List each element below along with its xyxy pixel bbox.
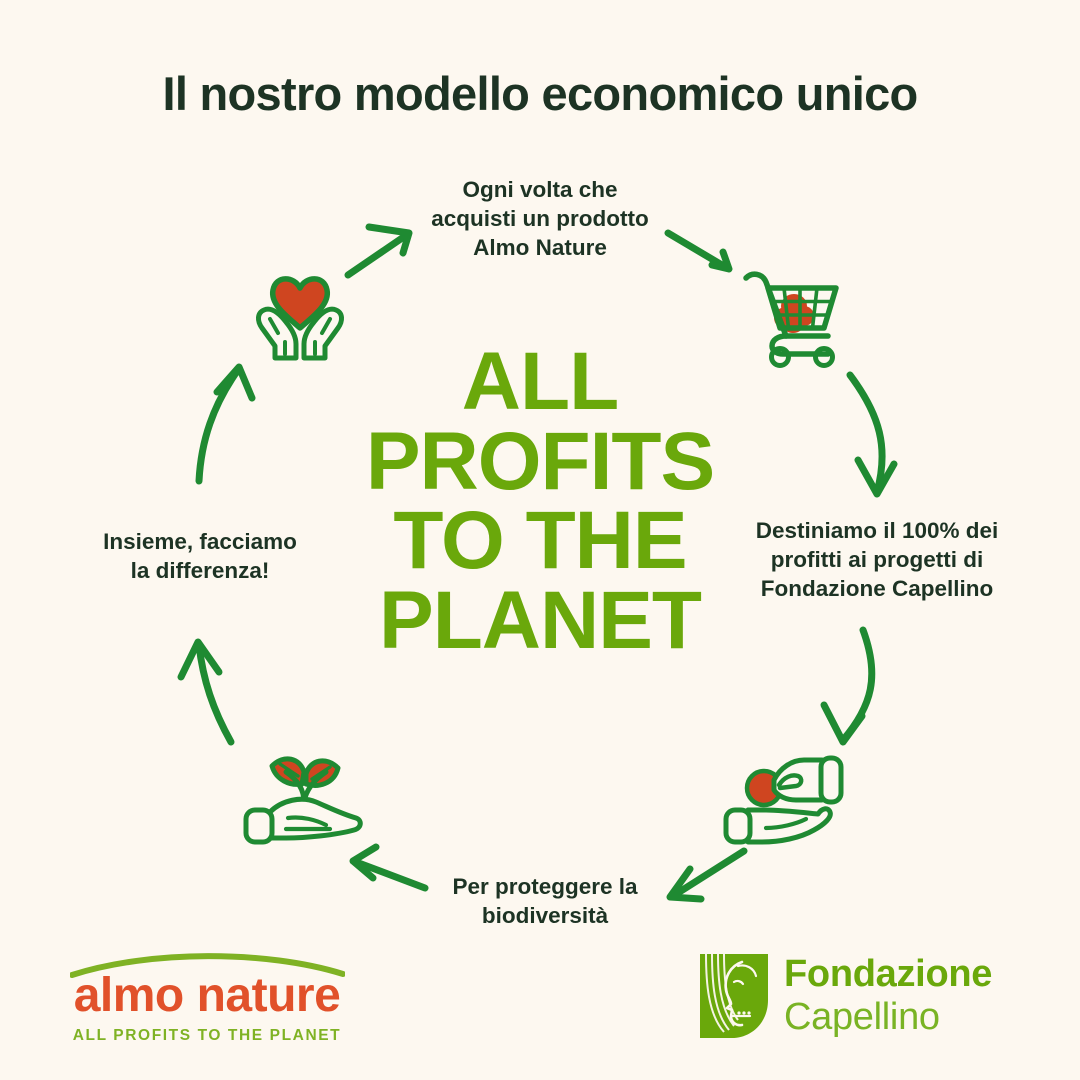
biodiversity-line-2: biodiversità bbox=[405, 902, 685, 931]
profits-line-3: Fondazione Capellino bbox=[722, 575, 1032, 604]
purchase-line-3: Almo Nature bbox=[390, 234, 690, 263]
purchase-line-1: Ogni volta che bbox=[390, 176, 690, 205]
arrow-together-to-heart bbox=[199, 367, 252, 481]
step-label-purchase: Ogni volta che acquisti un prodotto Almo… bbox=[390, 176, 690, 262]
fondazione-capellino-logo: Fondazione Capellino bbox=[698, 952, 1018, 1048]
biodiversity-line-1: Per proteggere la bbox=[405, 873, 685, 902]
together-line-1: Insieme, facciamo bbox=[55, 528, 345, 557]
hand-holding-plant-icon bbox=[240, 740, 368, 848]
headline-line-1: ALL bbox=[330, 342, 750, 422]
profits-line-2: profitti ai progetti di bbox=[722, 546, 1032, 575]
almo-nature-logo: almo nature ALL PROFITS TO THE PLANET bbox=[62, 952, 352, 1048]
fondazione-capellino-mark-icon bbox=[698, 952, 770, 1040]
hands-holding-heart-icon bbox=[244, 258, 356, 366]
profits-line-1: Destiniamo il 100% dei bbox=[722, 517, 1032, 546]
headline-line-4: PLANET bbox=[330, 581, 750, 661]
headline-line-2: PROFITS bbox=[330, 422, 750, 502]
hand-giving-coin-icon bbox=[718, 748, 848, 850]
fondazione-capellino-line-2: Capellino bbox=[784, 996, 940, 1039]
infographic-canvas: Il nostro modello economico unico bbox=[0, 0, 1080, 1080]
step-label-together: Insieme, facciamo la differenza! bbox=[55, 528, 345, 586]
arrow-plant-to-together bbox=[181, 642, 231, 742]
page-title: Il nostro modello economico unico bbox=[0, 66, 1080, 121]
arrow-profits-to-coin bbox=[824, 630, 872, 742]
arrow-cart-to-profits bbox=[850, 375, 894, 494]
headline-line-3: TO THE bbox=[330, 501, 750, 581]
shopping-cart-icon bbox=[736, 258, 848, 368]
center-headline: ALL PROFITS TO THE PLANET bbox=[330, 342, 750, 660]
step-label-profits: Destiniamo il 100% dei profitti ai proge… bbox=[722, 517, 1032, 603]
step-label-biodiversity: Per proteggere la biodiversità bbox=[405, 873, 685, 931]
almo-nature-tagline: ALL PROFITS TO THE PLANET bbox=[62, 1027, 352, 1045]
together-line-2: la differenza! bbox=[55, 557, 345, 586]
purchase-line-2: acquisti un prodotto bbox=[390, 205, 690, 234]
almo-nature-wordmark: almo nature bbox=[62, 968, 352, 1023]
fondazione-capellino-line-1: Fondazione bbox=[784, 953, 992, 996]
